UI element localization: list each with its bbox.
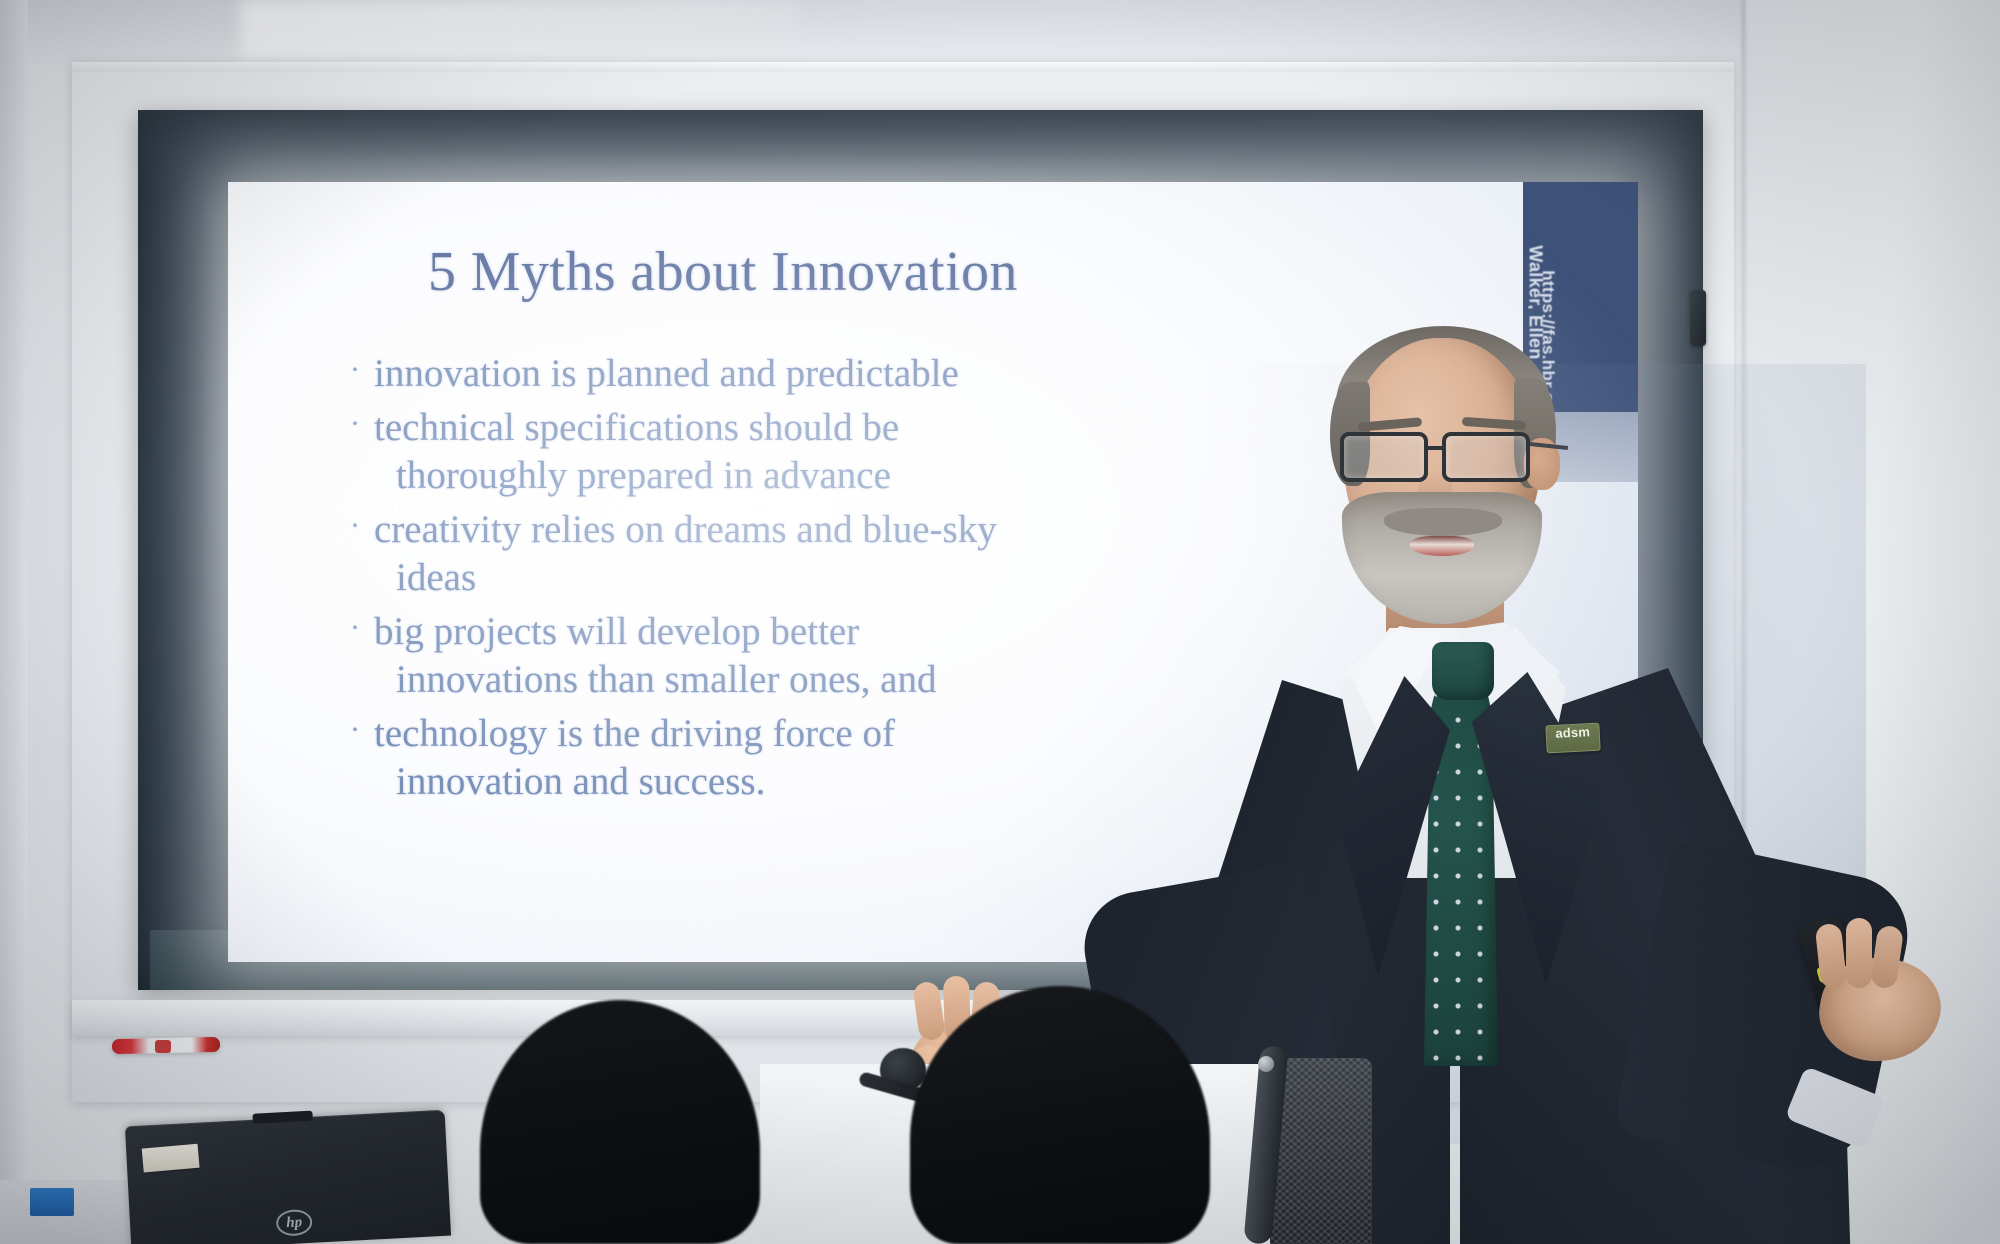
necktie-knot [1432,642,1494,700]
left-finger [912,980,946,1041]
bullet-marker-icon: · [350,502,360,550]
presenter-mustache [1384,508,1502,536]
hp-laptop[interactable]: hp [125,1110,451,1244]
ceiling-light-sheen [240,0,800,60]
eyeglasses-icon [1338,432,1550,484]
bullet-line: big projects will develop better [374,610,859,653]
desk-blue-object [30,1188,74,1216]
bullet-line: innovation is planned and predictable [374,352,959,395]
chair-pivot-screw [1258,1056,1274,1072]
laptop-asset-sticker [142,1144,200,1173]
lapel-badge: adsm [1545,723,1600,754]
wall-left-edge [0,0,28,1244]
bullet-line: technology is the driving force of [374,712,895,755]
whiteboard-marker-cap[interactable] [155,1040,171,1053]
slide-title: 5 Myths about Innovation [428,240,1018,304]
bullet-marker-icon: · [350,706,360,754]
bullet-marker-icon: · [350,400,360,448]
presenter-hand-right [1792,918,1992,1088]
presenter-mouth [1410,536,1474,556]
eyeglass-lens-right [1442,432,1530,482]
lecture-room-scene: 5 Myths about Innovation · innovation is… [0,0,2000,1244]
eyeglass-lens-left [1340,432,1428,482]
bullet-line: technical specifications should be [374,406,899,449]
bullet-line: creativity relies on dreams and blue-sky [374,508,997,551]
bullet-marker-icon: · [350,346,360,394]
office-chair[interactable] [1252,1042,1372,1244]
bullet-marker-icon: · [350,604,360,652]
bezel-sheen [138,110,1703,190]
right-finger [1846,918,1872,988]
lapel-badge-label: adsm [1555,724,1591,741]
eyeglass-bridge [1428,446,1446,450]
eyeglass-temple-arm [1530,442,1568,450]
whiteboard-frame-highlight [72,62,1734,72]
chair-mesh-back [1270,1058,1372,1244]
